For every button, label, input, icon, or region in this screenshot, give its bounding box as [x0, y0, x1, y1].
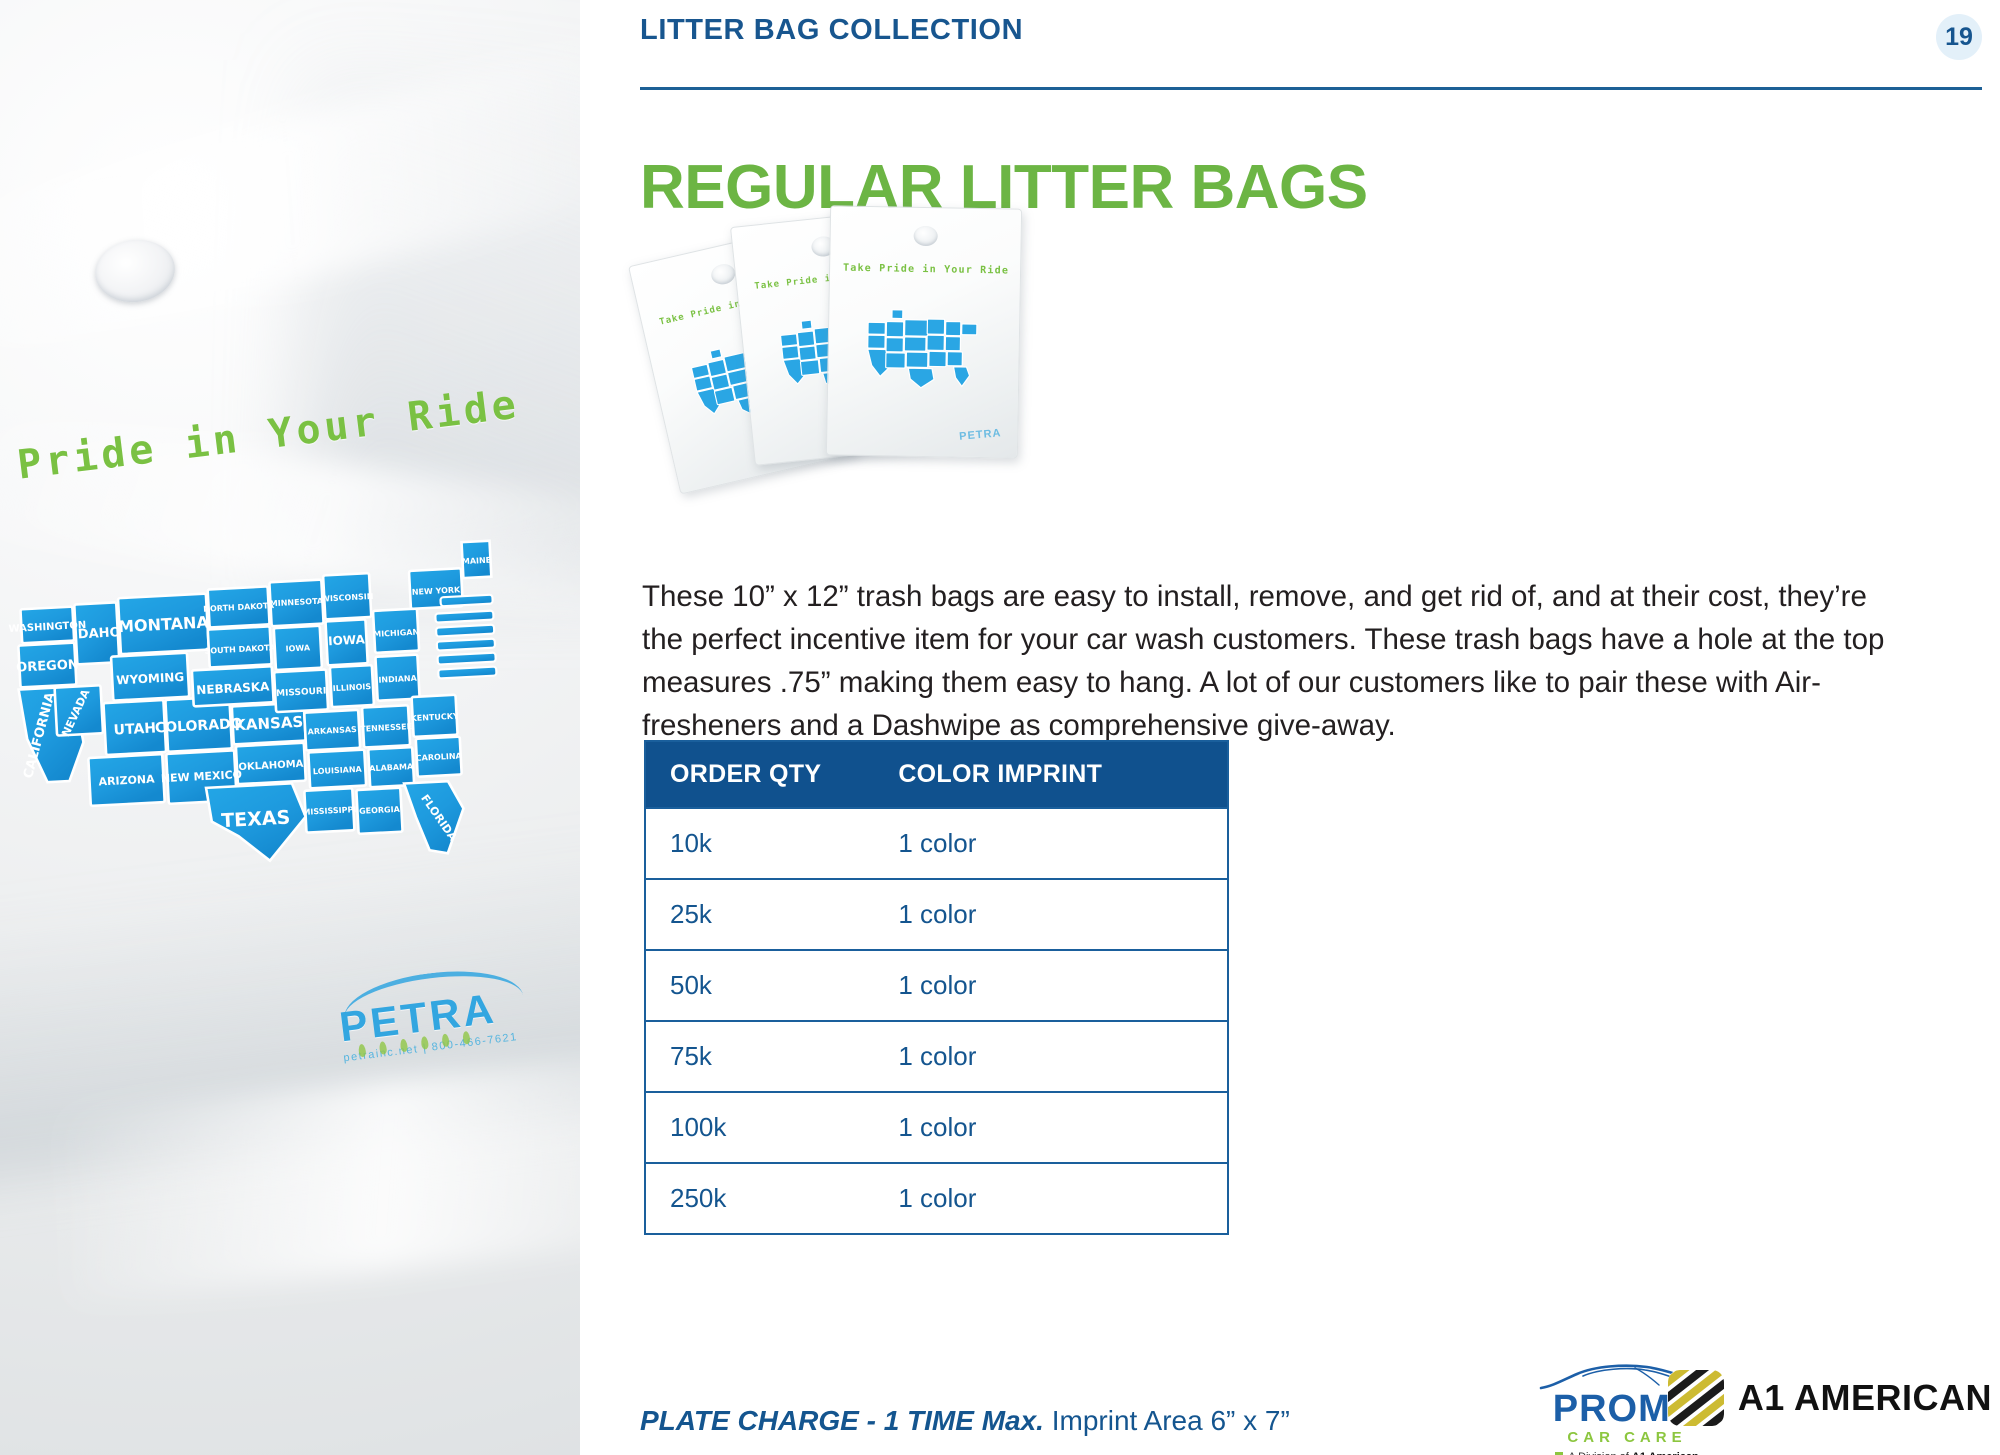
svg-text:KANSAS: KANSAS	[234, 713, 304, 735]
table-row: 10k 1 color	[645, 808, 1228, 879]
content-column: LITTER BAG COLLECTION 19 REGULAR LITTER …	[640, 0, 2000, 1455]
cell-order-qty: 10k	[645, 808, 874, 879]
left-product-photo: e Pride in Your Ride	[0, 0, 580, 1455]
column-header-order-qty: ORDER QTY	[645, 741, 874, 808]
cell-color-imprint: 1 color	[874, 808, 1228, 879]
page-number-badge: 19	[1936, 14, 1982, 60]
table-row: 50k 1 color	[645, 950, 1228, 1021]
header-divider	[640, 87, 1982, 90]
svg-text:IDAHO: IDAHO	[73, 625, 121, 642]
table-row: 25k 1 color	[645, 879, 1228, 950]
cell-order-qty: 50k	[645, 950, 874, 1021]
svg-text:IOWA: IOWA	[328, 632, 366, 648]
litter-bag-3: Take Pride in Your Ride	[826, 205, 1022, 458]
plate-charge-emphasis: PLATE CHARGE - 1 TIME Max.	[640, 1405, 1044, 1436]
pricing-table: ORDER QTY COLOR IMPRINT 10k 1 color 25k …	[644, 740, 1229, 1235]
product-photo-bags: Take Pride in Your Ride	[650, 195, 1050, 495]
cell-order-qty: 25k	[645, 879, 874, 950]
bag-us-map	[857, 305, 990, 391]
bag-brand-mark: PETRA	[958, 427, 1001, 443]
us-map-graphic: WASHINGTON OREGON CALIFORNIA NEVADA IDAH…	[0, 506, 520, 914]
cell-color-imprint: 1 color	[874, 1092, 1228, 1163]
a1-stripes-icon	[1668, 1370, 1724, 1426]
bag-slogan: Take Pride in Your Ride	[838, 262, 1014, 276]
cell-color-imprint: 1 color	[874, 879, 1228, 950]
a1-wordmark: A1 AMERICAN	[1738, 1377, 1992, 1419]
a1-american-logo: A1 AMERICAN	[1668, 1370, 1992, 1426]
catalog-page: e Pride in Your Ride	[0, 0, 2000, 1455]
cell-color-imprint: 1 color	[874, 1163, 1228, 1234]
bag-hang-hole	[914, 226, 938, 246]
promo-division-line: A Division of A1 American	[1522, 1451, 1732, 1455]
product-description: These 10” x 12” trash bags are easy to i…	[642, 575, 1912, 747]
section-kicker: LITTER BAG COLLECTION	[640, 14, 1023, 47]
division-prefix: A Division of	[1568, 1451, 1632, 1455]
table-row: 100k 1 color	[645, 1092, 1228, 1163]
svg-text:IOWA: IOWA	[285, 643, 311, 653]
table-row: 250k 1 color	[645, 1163, 1228, 1234]
footer-logos: PROMO CAR CARE A Division of A1 American	[1522, 1360, 1992, 1446]
cell-color-imprint: 1 color	[874, 1021, 1228, 1092]
table-row: 75k 1 color	[645, 1021, 1228, 1092]
table-header-row: ORDER QTY COLOR IMPRINT	[645, 741, 1228, 808]
column-header-color-imprint: COLOR IMPRINT	[874, 741, 1228, 808]
svg-text:TEXAS: TEXAS	[221, 807, 291, 833]
division-brand: A1 American	[1632, 1451, 1699, 1455]
imprint-area-text: Imprint Area 6” x 7”	[1044, 1405, 1290, 1436]
promo-tagline: CAR CARE	[1522, 1429, 1732, 1446]
bag-hang-hole	[709, 262, 737, 287]
svg-text:UTAH: UTAH	[113, 720, 156, 738]
cell-order-qty: 250k	[645, 1163, 874, 1234]
cell-color-imprint: 1 color	[874, 950, 1228, 1021]
cell-order-qty: 100k	[645, 1092, 874, 1163]
svg-text:MAINE: MAINE	[462, 556, 492, 567]
plate-charge-note: PLATE CHARGE - 1 TIME Max. Imprint Area …	[640, 1405, 1290, 1437]
cell-order-qty: 75k	[645, 1021, 874, 1092]
table-body: 10k 1 color 25k 1 color 50k 1 color 75k …	[645, 808, 1228, 1234]
